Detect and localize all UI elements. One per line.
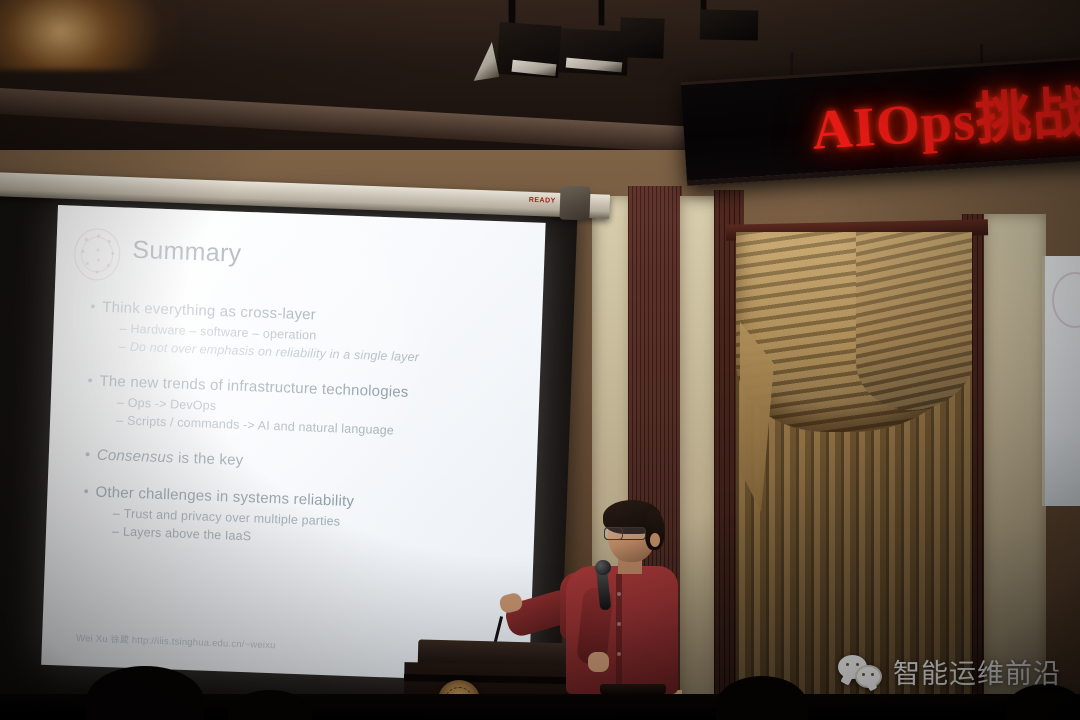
watermark: 智能运维前沿 <box>838 652 1061 691</box>
sub-bullet-text: Layers above the IaaS <box>123 525 252 544</box>
truss-rod-2 <box>598 0 605 26</box>
slide-title: Summary <box>132 236 242 269</box>
wechat-eye <box>871 673 874 676</box>
footer-url: http://iiis.tsinghua.edu.cn/~weixu <box>132 635 276 651</box>
bullet-group: •Consensus is the key <box>85 446 525 479</box>
sub-bullet-glyph: – <box>119 321 131 335</box>
speaker-belt <box>600 684 666 694</box>
bullet-group: •The new trends of infrastructure techno… <box>86 372 528 442</box>
slide-footer: Wei Xu 徐葳 http://iiis.tsinghua.edu.cn/~w… <box>76 631 276 651</box>
wechat-eye <box>846 663 849 666</box>
bullet-glyph: • <box>90 298 103 315</box>
stage-light-glow <box>0 0 180 70</box>
bullet-group: •Other challenges in systems reliability… <box>82 483 524 553</box>
wechat-eye <box>856 663 859 666</box>
housing-label: READY <box>529 197 556 205</box>
bullet-item: •Consensus is the key <box>85 446 525 479</box>
speaker-right-hand <box>588 652 609 672</box>
sub-bullet-glyph: – <box>119 339 131 353</box>
footer-author-cn: 徐葳 <box>110 634 129 645</box>
watermark-text: 智能运维前沿 <box>893 652 1061 691</box>
sub-bullet-text: Hardware – software – operation <box>130 322 316 343</box>
footer-author-en: Wei Xu <box>76 633 108 645</box>
bullet-text: Think everything as cross-layer <box>102 299 316 324</box>
bullet-text: is the key <box>173 449 243 469</box>
speaker-shirt-button <box>617 622 621 626</box>
wechat-eye <box>862 673 865 676</box>
projection-screen-roller-cap <box>559 185 590 220</box>
wall-panel-2 <box>680 196 718 720</box>
sub-bullet-glyph: – <box>112 524 124 538</box>
photo-scene: AIOps挑战赛 READY Summary •Think everything… <box>0 0 1080 720</box>
presentation-slide: Summary •Think everything as cross-layer… <box>41 205 546 683</box>
wechat-logo-icon <box>838 655 884 689</box>
speaker-ear <box>650 533 660 547</box>
slide-bullet-list: •Think everything as cross-layer –Hardwa… <box>81 298 530 573</box>
bullet-group: •Think everything as cross-layer –Hardwa… <box>89 298 531 368</box>
sub-bullet-glyph: – <box>117 395 129 409</box>
stage-light-3 <box>619 17 664 59</box>
sub-bullet-glyph: – <box>116 413 128 427</box>
stage-light-5 <box>700 9 759 40</box>
bullet-glyph: • <box>85 446 98 463</box>
stage-curtain <box>736 232 972 720</box>
speaker-glasses-lens <box>604 527 623 540</box>
bullet-text-emphasis: Consensus <box>97 447 174 467</box>
wechat-bubble-small <box>855 665 882 688</box>
curtain-swag-right <box>856 232 972 410</box>
sub-bullet-text: Ops -> DevOps <box>128 396 217 413</box>
speaker-shirt-placket <box>616 574 622 686</box>
led-banner-text: AIOps挑战赛 <box>809 64 1080 166</box>
sub-bullet-glyph: – <box>112 506 124 520</box>
wall-panel-3 <box>984 214 1046 720</box>
bullet-glyph: • <box>87 372 100 389</box>
bullet-glyph: • <box>83 483 96 500</box>
tsinghua-seal-dots <box>73 228 121 282</box>
speaker-shirt-button <box>617 592 621 596</box>
speaker-shirt-button <box>617 652 621 656</box>
